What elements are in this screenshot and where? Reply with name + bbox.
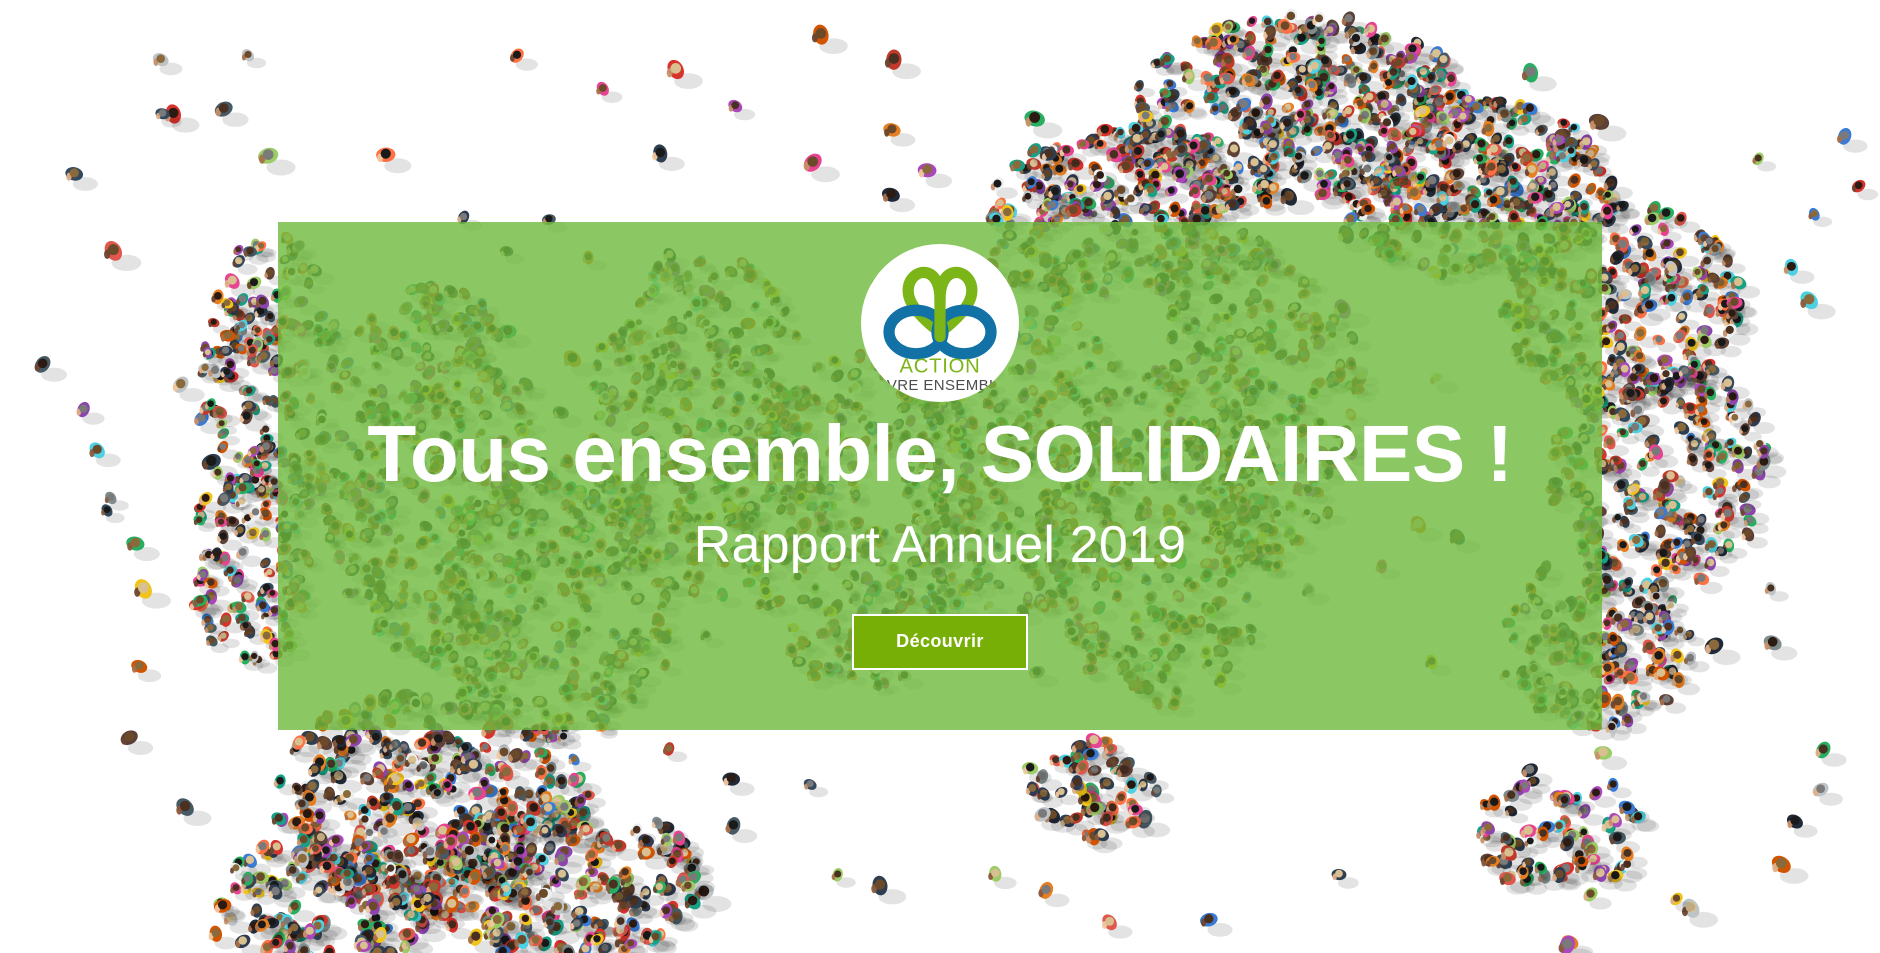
logo-badge: ACTION VIVRE ENSEMBLE (861, 244, 1019, 402)
green-overlay-panel: ACTION VIVRE ENSEMBLE Tous ensemble, SOL… (278, 222, 1602, 730)
logo-secondary-text: VIVRE ENSEMBLE (872, 377, 1008, 394)
hero-banner: ACTION VIVRE ENSEMBLE Tous ensemble, SOL… (0, 0, 1880, 953)
page-subtitle: Rapport Annuel 2019 (296, 517, 1584, 574)
action-vivre-ensemble-logo-icon: ACTION VIVRE ENSEMBLE (865, 248, 1015, 398)
page-title: Tous ensemble, SOLIDAIRES ! (296, 412, 1584, 495)
discover-button[interactable]: Découvrir (852, 614, 1028, 670)
cta-container: Découvrir (296, 614, 1584, 670)
logo-primary-text: ACTION (899, 356, 980, 378)
hero-text-block: Tous ensemble, SOLIDAIRES ! Rapport Annu… (278, 412, 1602, 670)
